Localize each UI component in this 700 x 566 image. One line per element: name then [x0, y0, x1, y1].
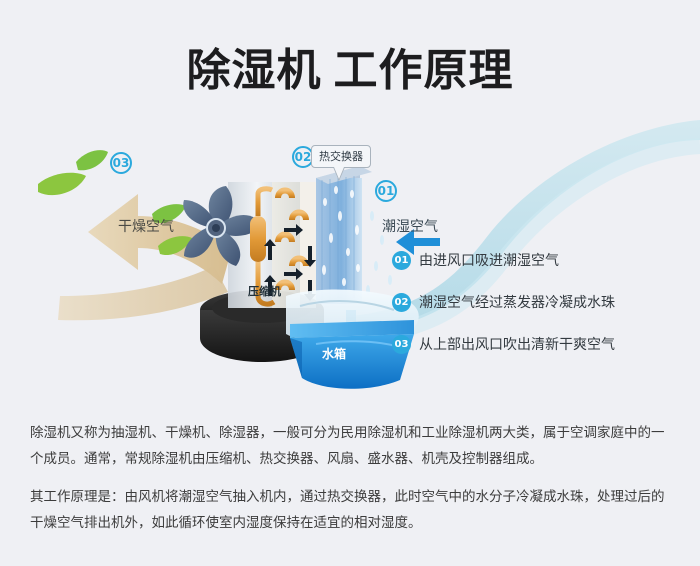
- list-item: 03 从上部出风口吹出清新干爽空气: [392, 334, 692, 354]
- page-title-part1: 除湿机: [187, 45, 322, 96]
- step-badge-03: 03: [392, 335, 411, 354]
- heat-exchanger-callout: 热交换器: [311, 145, 371, 168]
- label-compressor: 压缩机: [248, 283, 281, 299]
- compressor-body: [250, 216, 266, 262]
- step-text-03: 从上部出风口吹出清新干爽空气: [419, 334, 615, 354]
- diagram-ring-03: 03: [110, 152, 132, 174]
- step-text-02: 潮湿空气经过蒸发器冷凝成水珠: [419, 292, 615, 312]
- body-copy: 除湿机又称为抽湿机、干燥机、除湿器，一般可分为民用除湿机和工业除湿机两大类，属于…: [30, 420, 675, 548]
- step-list: 01 由进风口吸进潮湿空气 02 潮湿空气经过蒸发器冷凝成水珠 03 从上部出风…: [392, 250, 692, 376]
- body-paragraph-2: 其工作原理是：由风机将潮湿空气抽入机内，通过热交换器，此时空气中的水分子冷凝成水…: [30, 484, 675, 536]
- list-item: 02 潮湿空气经过蒸发器冷凝成水珠: [392, 292, 692, 312]
- page-root: 除湿机工作原理: [0, 0, 700, 566]
- step-badge-02: 02: [392, 293, 411, 312]
- body-paragraph-1: 除湿机又称为抽湿机、干燥机、除湿器，一般可分为民用除湿机和工业除湿机两大类，属于…: [30, 420, 675, 472]
- step-badge-01: 01: [392, 251, 411, 270]
- diagram-ring-01: 01: [375, 180, 397, 202]
- label-humid-air: 潮湿空气: [382, 216, 438, 236]
- label-water-tank: 水箱: [322, 345, 346, 362]
- page-title: 除湿机工作原理: [0, 34, 700, 98]
- list-item: 01 由进风口吸进潮湿空气: [392, 250, 692, 270]
- evaporator-block: [316, 166, 372, 304]
- step-text-01: 由进风口吸进潮湿空气: [419, 250, 559, 270]
- page-title-part2: 工作原理: [334, 45, 514, 96]
- label-dry-air: 干燥空气: [118, 216, 174, 236]
